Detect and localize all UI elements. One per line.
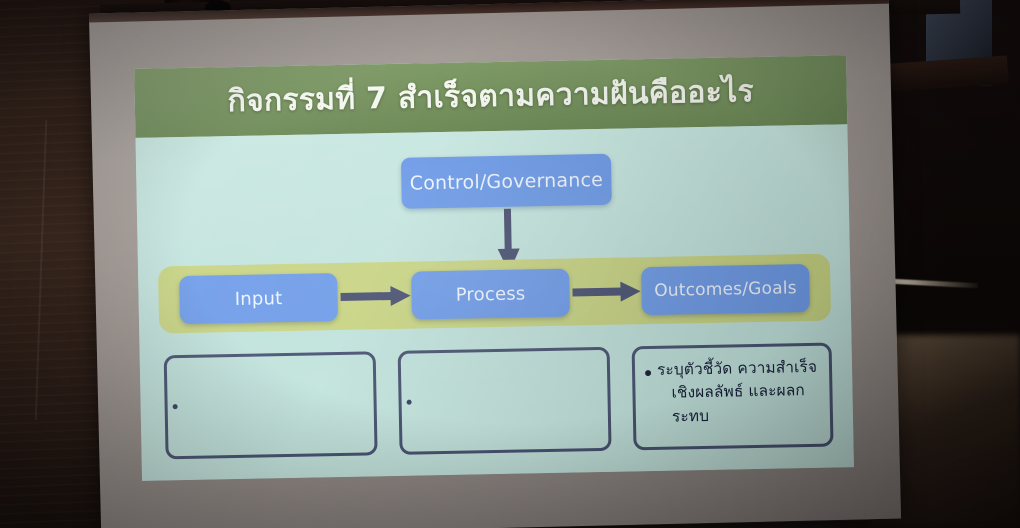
control-governance-box: Control/Governance (401, 154, 612, 209)
page-title: กิจกรรมที่ 7 สำเร็จตามความฝันคืออะไร (227, 68, 754, 125)
slide-body: Control/Governance Input Process (135, 124, 853, 481)
note-box-outcomes: ระบุตัวชี้วัด ความสำเร็จ เชิงผลลัพธ์ และ… (632, 343, 834, 451)
flow-box-process: Process (411, 269, 570, 320)
control-governance-label: Control/Governance (410, 168, 604, 194)
arrow-process-to-outcomes-icon (572, 283, 642, 300)
note-box-process (398, 347, 612, 455)
note-box-input (164, 351, 378, 459)
flow-box-input: Input (179, 273, 338, 324)
flow-label-outcomes: Outcomes/Goals (654, 278, 797, 301)
bullet-icon (173, 404, 178, 409)
flow-box-outcomes: Outcomes/Goals (641, 264, 810, 315)
flow-label-input: Input (235, 288, 283, 310)
presentation-slide: กิจกรรมที่ 7 สำเร็จตามความฝันคืออะไร Con… (134, 55, 854, 481)
note-outcomes-line: ระบุตัวชี้วัด ความสำเร็จ เชิงผลลัพธ์ และ… (645, 356, 822, 429)
note-outcomes-line1: ระบุตัวชี้วัด ความสำเร็จ (657, 358, 817, 379)
projection-screen: กิจกรรมที่ 7 สำเร็จตามความฝันคืออะไร Con… (89, 0, 901, 528)
flow-label-process: Process (456, 283, 526, 305)
arrow-input-to-process-icon (340, 288, 410, 305)
note-outcomes-text: ระบุตัวชี้วัด ความสำเร็จ เชิงผลลัพธ์ และ… (657, 356, 822, 429)
note-outcomes-line2: เชิงผลลัพธ์ และผลกระทบ (657, 379, 822, 429)
bullet-icon (407, 400, 412, 405)
room-environment: กิจกรรมที่ 7 สำเร็จตามความฝันคืออะไร Con… (0, 0, 1020, 528)
bullet-icon (645, 370, 651, 376)
